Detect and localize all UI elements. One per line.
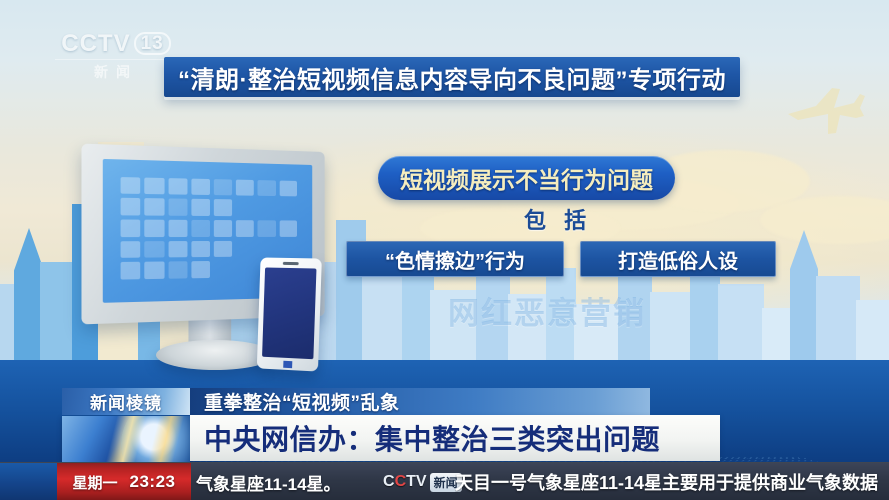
ticker-weekday: 星期一 (73, 472, 118, 493)
program-tag-label: 新闻棱镜 (90, 389, 162, 414)
lower-third-headline: 中央网信办：集中整治三类突出问题 (190, 415, 720, 461)
ticker-message-main: 天目一号气象星座11-14星主要用于提供商业气象数据 (455, 463, 889, 500)
ticker-brand-text: CCTV (383, 473, 427, 491)
phone-home-button (283, 361, 292, 368)
phone-screen (262, 267, 316, 359)
phone-speaker (283, 262, 299, 265)
cctv-logo-text: CCTV (61, 30, 130, 57)
connector-label: 包 括 (524, 203, 592, 235)
topic-item-label: “色情擦边”行为 (385, 245, 525, 274)
ticker-left-fill (0, 463, 57, 500)
ticker-message-left: 气象星座11-14星。 (196, 463, 341, 500)
news-ticker-bar: 星期一 23:23 气象星座11-14星。 CCTV 新闻 天目一号气象星座11… (0, 462, 889, 500)
topic-item-box: “色情擦边”行为 (346, 241, 564, 277)
program-tag: 新闻棱镜 (62, 388, 190, 415)
ticker-clock: 23:23 (130, 472, 176, 492)
lower-third-subhead: 重拳整治“短视频”乱象 (190, 388, 650, 415)
topic-pill: 短视频展示不当行为问题 (378, 156, 675, 200)
ticker-cctv-news-logo: CCTV 新闻 (383, 471, 462, 493)
topic-item-box: 打造低俗人设 (580, 241, 776, 277)
cctv13-channel-logo: CCTV13 新闻 (55, 32, 177, 82)
cctv-logo-number: 13 (134, 32, 171, 55)
broadcast-screen: CCTV13 新闻 “清朗·整治短视频信息内容导向不良问题”专项行动 网红恶意营… (0, 0, 889, 500)
topic-item-label: 打造低俗人设 (618, 245, 738, 274)
campaign-banner: “清朗·整治短视频信息内容导向不良问题”专项行动 (164, 57, 740, 97)
ticker-datetime: 星期一 23:23 (57, 463, 191, 500)
cctv-logo-subtitle: 新闻 (55, 59, 177, 82)
lower-third-subhead-text: 重拳整治“短视频”乱象 (204, 388, 400, 415)
ghost-watermark-text: 网红恶意营销 (448, 288, 646, 333)
campaign-banner-text: “清朗·整治短视频信息内容导向不良问题”专项行动 (178, 60, 726, 95)
topic-pill-text: 短视频展示不当行为问题 (400, 161, 653, 195)
lower-third-headline-text: 中央网信办：集中整治三类突出问题 (204, 418, 660, 458)
smartphone-graphic (257, 257, 322, 371)
